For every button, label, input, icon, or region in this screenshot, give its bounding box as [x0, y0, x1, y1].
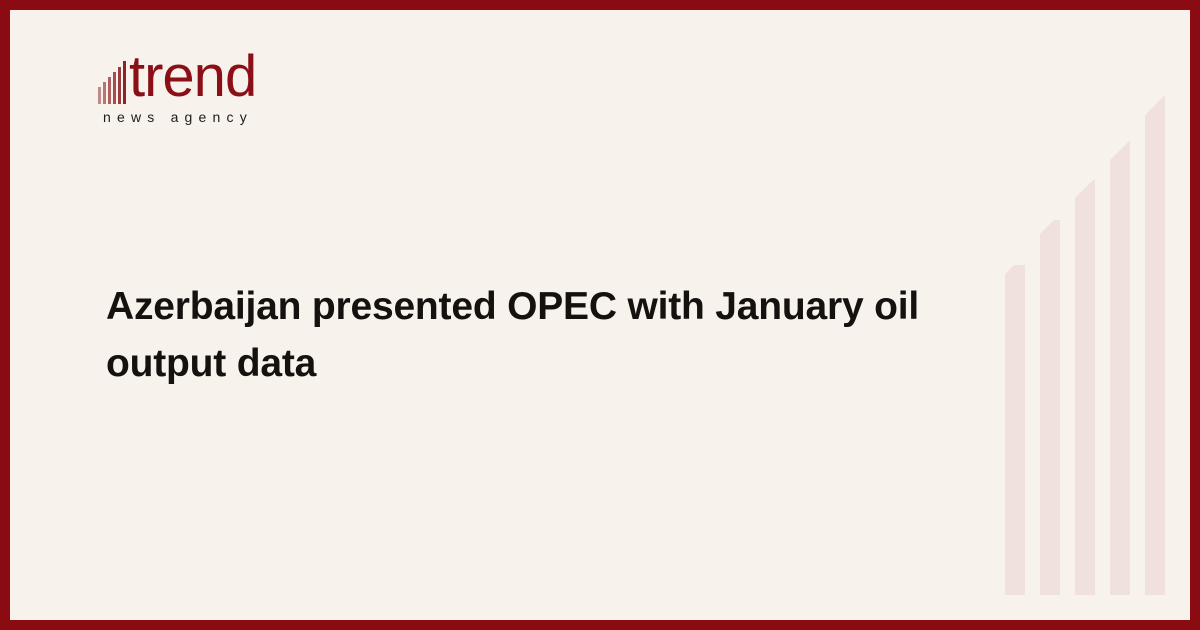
logo-wordmark: trend: [129, 48, 256, 106]
logo-subtitle: news agency: [103, 109, 398, 125]
decor-bar-5: [1145, 95, 1165, 595]
logo-mark-bar: [103, 82, 106, 104]
brand-logo[interactable]: trend news agency: [98, 48, 398, 125]
logo-mark-bar: [108, 77, 111, 104]
card-content-area: trend news agency Azerbaijan presented O…: [10, 10, 1190, 620]
logo-mark-bar: [113, 72, 116, 104]
ascending-bars-mark-icon: [98, 60, 128, 104]
decor-bar-2: [1040, 220, 1060, 595]
logo-mark-bar: [118, 67, 121, 104]
share-card: trend news agency Azerbaijan presented O…: [0, 0, 1200, 630]
logo-mark-row: trend: [98, 48, 398, 106]
logo-mark-bar: [98, 87, 101, 104]
logo-mark-bar: [123, 61, 126, 104]
headline-text: Azerbaijan presented OPEC with January o…: [106, 278, 1036, 392]
decor-bar-4: [1110, 140, 1130, 595]
decor-bar-3: [1075, 180, 1095, 595]
